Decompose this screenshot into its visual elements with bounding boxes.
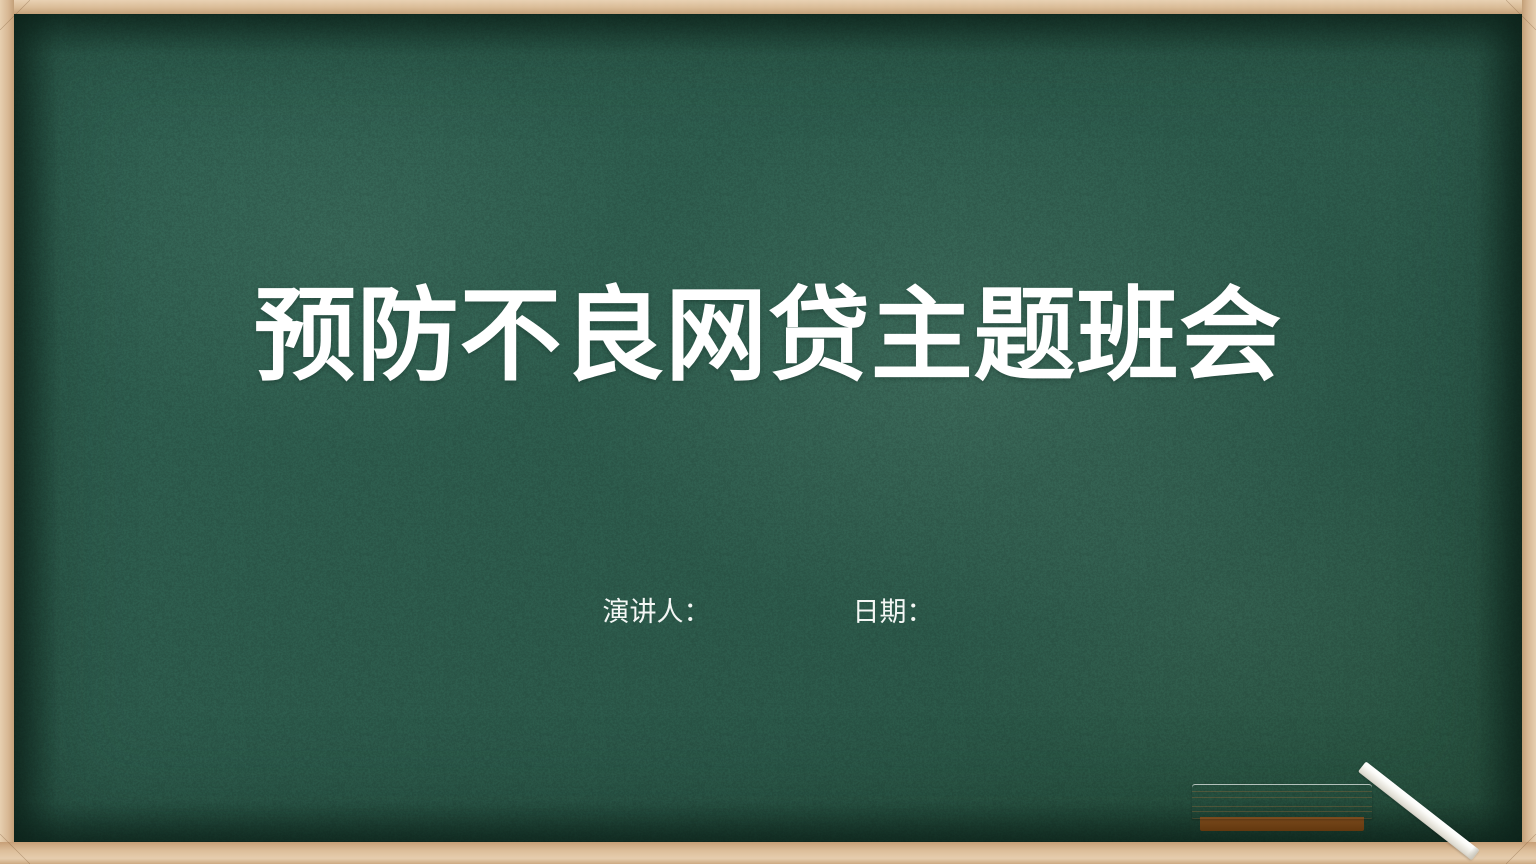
eraser-grain-line: [1192, 811, 1372, 812]
page-title: 预防不良网贷主题班会: [0, 282, 1536, 390]
chalkboard-surface: [14, 14, 1522, 842]
frame-top-rail: [0, 0, 1536, 14]
eraser-grain-line: [1192, 791, 1372, 792]
eraser-grain-line: [1192, 806, 1372, 807]
presenter-label: 演讲人：: [603, 597, 711, 627]
eraser-wood-body: [1192, 784, 1372, 819]
byline: 演讲人： 日期：: [0, 596, 1536, 630]
presentation-slide: 预防不良网贷主题班会 演讲人： 日期：: [0, 0, 1536, 864]
frame-left-rail: [0, 0, 14, 864]
date-field: 日期：: [853, 596, 934, 630]
date-label: 日期：: [853, 597, 934, 627]
chalkboard-texture: [14, 14, 1522, 842]
presenter-field: 演讲人：: [603, 596, 711, 630]
blackboard-eraser-icon: [1192, 784, 1372, 829]
frame-bottom-ledge: [0, 842, 1536, 864]
frame-right-rail: [1522, 0, 1536, 864]
eraser-felt-pad: [1200, 817, 1364, 831]
eraser-grain-line: [1192, 797, 1372, 798]
